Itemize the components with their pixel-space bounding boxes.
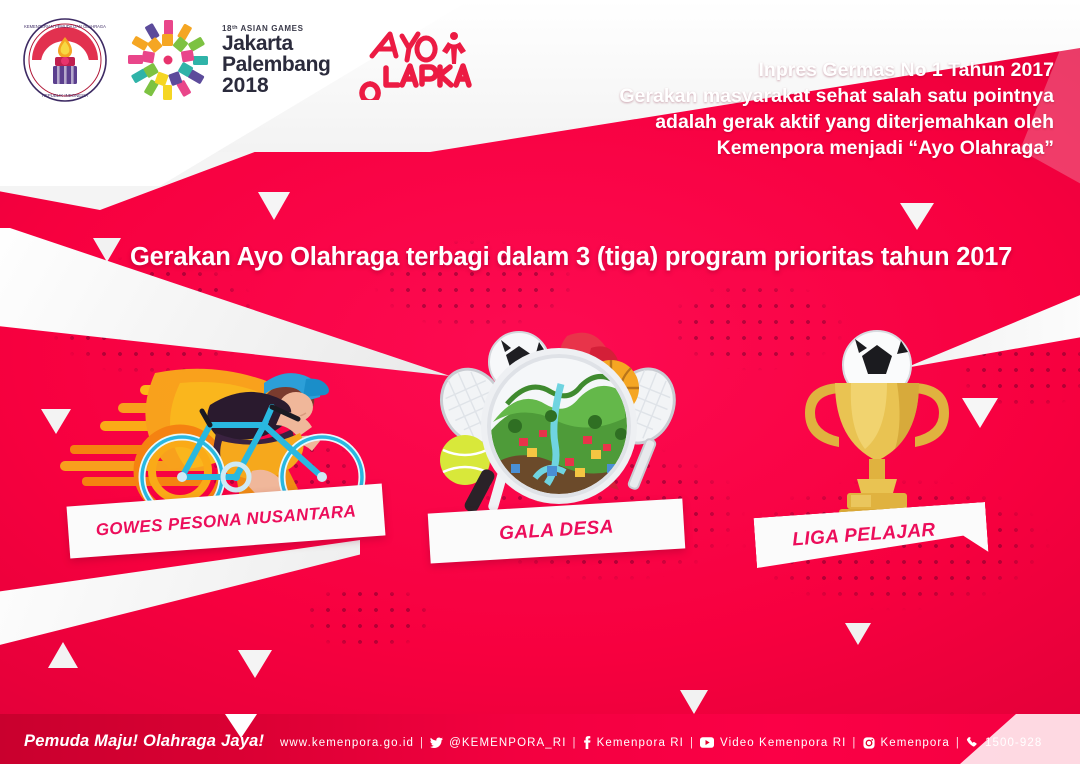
header-line-3: adalah gerak aktif yang diterjemahkan ol… bbox=[619, 110, 1054, 136]
program-label-liga: LIGA PELAJAR bbox=[792, 520, 937, 552]
facebook-icon bbox=[583, 736, 591, 749]
header-line-4: Kemenpora menjadi “Ayo Olahraga” bbox=[619, 136, 1054, 162]
asian-games-city-2: Palembang bbox=[222, 54, 330, 75]
asian-games-logo: 18ᵗʰ ASIAN GAMES Jakarta Palembang 2018 bbox=[122, 14, 330, 106]
footer-link-twitter[interactable]: @KEMENPORA_RI bbox=[449, 737, 566, 749]
seal-ring-top-text: KEMENTERIAN PEMUDA DAN OLAHRAGA bbox=[24, 24, 106, 29]
program-liga-pelajar[interactable]: LIGA PELAJAR bbox=[745, 325, 1020, 570]
poster-root: KEMENTERIAN PEMUDA DAN OLAHRAGA REPUBLIK… bbox=[0, 0, 1080, 764]
program-gala-desa[interactable]: GALA DESA bbox=[415, 318, 705, 568]
program-label-gowes: GOWES PESONA NUSANTARA bbox=[95, 501, 357, 540]
footer-separator-3: | bbox=[690, 737, 694, 749]
triangle-accent-7 bbox=[238, 650, 272, 678]
header-line-2: Gerakan masyarakat sehat salah satu poin… bbox=[619, 84, 1054, 110]
instagram-icon bbox=[863, 737, 875, 749]
footer-link-facebook[interactable]: Kemenpora RI bbox=[597, 737, 684, 749]
footer-links: www.kemenpora.go.id | @KEMENPORA_RI | Ke… bbox=[280, 736, 1042, 749]
program-gowes-pesona-nusantara[interactable]: GOWES PESONA NUSANTARA bbox=[60, 325, 390, 570]
footer-tagline: Pemuda Maju! Olahraga Jaya! bbox=[24, 732, 264, 751]
asian-games-city-1: Jakarta bbox=[222, 33, 330, 54]
twitter-icon bbox=[430, 737, 443, 749]
triangle-accent-1 bbox=[258, 192, 290, 220]
triangle-accent-9 bbox=[680, 690, 708, 714]
header-statement: Inpres Germas No 1 Tahun 2017 Gerakan ma… bbox=[619, 58, 1054, 162]
logo-group: KEMENTERIAN PEMUDA DAN OLAHRAGA REPUBLIK… bbox=[22, 14, 484, 106]
triangle-accent-3 bbox=[900, 203, 934, 230]
triangle-accent-6 bbox=[48, 642, 78, 668]
footer-link-youtube[interactable]: Video Kemenpora RI bbox=[720, 737, 846, 749]
youtube-icon bbox=[700, 737, 714, 748]
page-title: Gerakan Ayo Olahraga terbagi dalam 3 (ti… bbox=[130, 243, 1012, 272]
footer-separator-4: | bbox=[852, 737, 856, 749]
footer-separator-5: | bbox=[956, 737, 960, 749]
triangle-accent-8 bbox=[845, 623, 871, 645]
footer-link-phone[interactable]: 1500-928 bbox=[985, 737, 1042, 749]
asian-games-year: 2018 bbox=[222, 75, 330, 96]
footer-separator-2: | bbox=[573, 737, 577, 749]
program-label-gala: GALA DESA bbox=[499, 517, 615, 546]
triangle-accent-2 bbox=[93, 238, 121, 262]
kemenpora-seal-logo: KEMENTERIAN PEMUDA DAN OLAHRAGA REPUBLIK… bbox=[22, 17, 108, 103]
ayo-olahraga-logo bbox=[356, 20, 484, 100]
asian-games-energy-mark bbox=[122, 14, 214, 106]
footer-separator-1: | bbox=[420, 737, 424, 749]
village-medallion bbox=[481, 348, 637, 504]
trophy-body bbox=[805, 383, 949, 523]
asian-games-wordmark: 18ᵗʰ ASIAN GAMES Jakarta Palembang 2018 bbox=[222, 25, 330, 96]
seal-ring-bottom-text: REPUBLIK INDONESIA bbox=[42, 93, 88, 98]
footer-link-website[interactable]: www.kemenpora.go.id bbox=[280, 737, 414, 749]
phone-icon bbox=[966, 736, 979, 749]
footer-link-instagram[interactable]: Kemenpora bbox=[881, 737, 950, 749]
header-line-1: Inpres Germas No 1 Tahun 2017 bbox=[619, 58, 1054, 84]
trophy-illustration bbox=[765, 325, 995, 535]
